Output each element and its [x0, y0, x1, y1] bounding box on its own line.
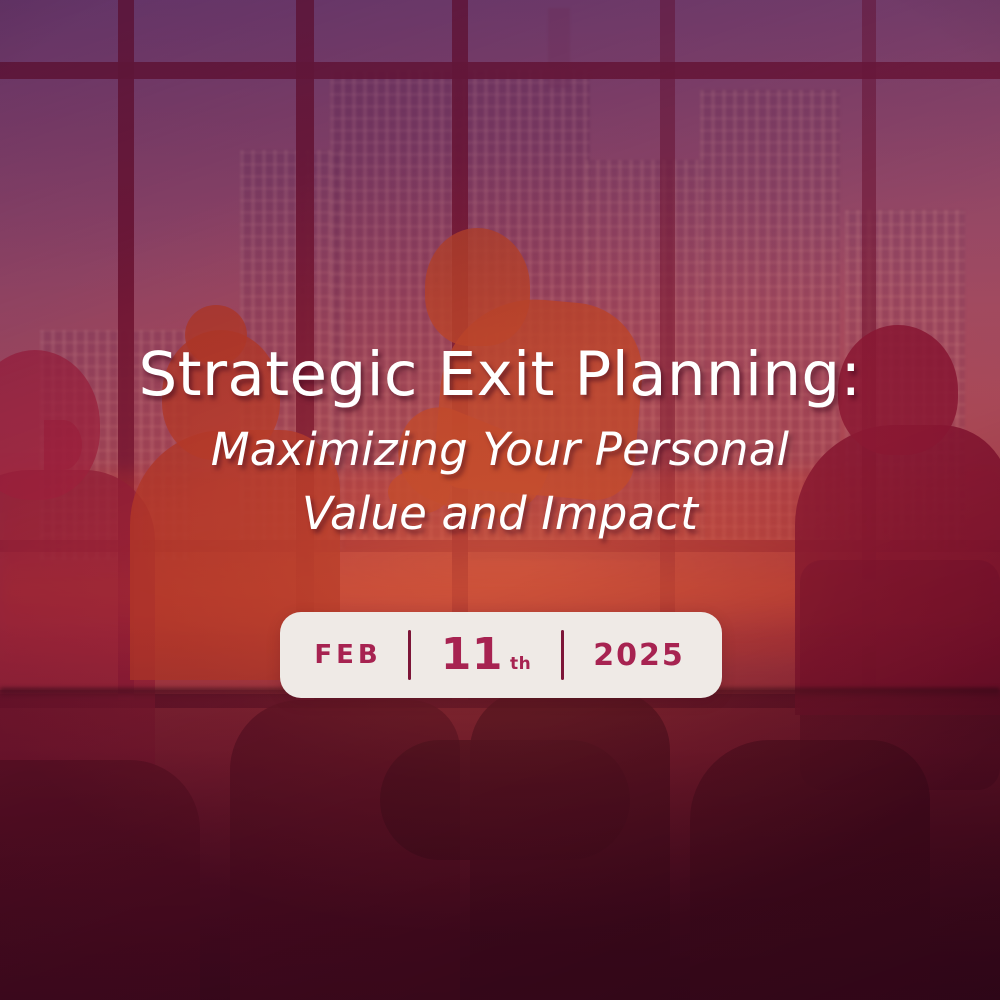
poster-content: Strategic Exit Planning: Maximizing Your… — [0, 0, 1000, 1000]
page-subtitle: Maximizing Your Personal Value and Impac… — [0, 418, 1000, 546]
event-date-day: 11 — [441, 633, 503, 677]
page-subtitle-line-2: Value and Impact — [0, 482, 1000, 546]
event-date-month: FEB — [288, 640, 408, 670]
page-title: Strategic Exit Planning: — [0, 344, 1000, 406]
event-date-row: FEB 11 th 2025 — [288, 630, 714, 680]
title-block: Strategic Exit Planning: Maximizing Your… — [0, 344, 1000, 546]
page-subtitle-line-1: Maximizing Your Personal — [211, 423, 789, 476]
event-date-year: 2025 — [564, 638, 714, 673]
event-poster: Strategic Exit Planning: Maximizing Your… — [0, 0, 1000, 1000]
event-date-ordinal-suffix: th — [510, 654, 531, 674]
event-date-day-group: 11 th — [411, 633, 561, 677]
event-date-badge: FEB 11 th 2025 — [280, 612, 722, 698]
